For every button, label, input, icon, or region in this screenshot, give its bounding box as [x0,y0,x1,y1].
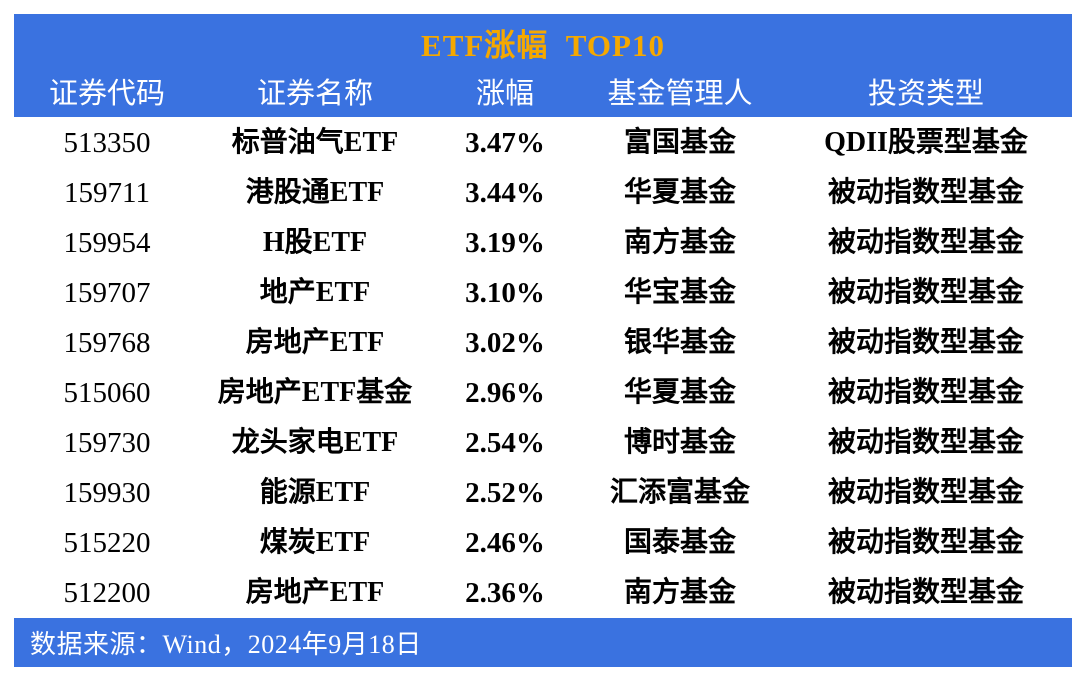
cell-type: 被动指数型基金 [780,576,1072,610]
table-row: 515220 煤炭ETF 2.46% 国泰基金 被动指数型基金 [14,518,1072,568]
cell-type: 被动指数型基金 [780,226,1072,260]
cell-change: 3.44% [430,176,580,210]
cell-manager: 富国基金 [580,126,780,160]
cell-change: 2.46% [430,526,580,560]
cell-manager: 南方基金 [580,576,780,610]
cell-type: QDII股票型基金 [780,126,1072,160]
cell-type: 被动指数型基金 [780,426,1072,460]
cell-change: 2.52% [430,476,580,510]
column-header-manager: 基金管理人 [580,74,780,114]
table-body: 513350 标普油气ETF 3.47% 富国基金 QDII股票型基金 1597… [14,118,1072,618]
table-row: 515060 房地产ETF基金 2.96% 华夏基金 被动指数型基金 [14,368,1072,418]
column-header-name: 证券名称 [200,74,430,114]
table-row: 159711 港股通ETF 3.44% 华夏基金 被动指数型基金 [14,168,1072,218]
cell-name: 房地产ETF [200,576,430,610]
cell-manager: 国泰基金 [580,526,780,560]
cell-name: H股ETF [200,226,430,260]
cell-manager: 华夏基金 [580,176,780,210]
cell-change: 2.36% [430,576,580,610]
cell-change: 3.19% [430,226,580,260]
cell-name: 标普油气ETF [200,126,430,160]
table-row: 159707 地产ETF 3.10% 华宝基金 被动指数型基金 [14,268,1072,318]
cell-code: 515220 [14,526,200,560]
cell-type: 被动指数型基金 [780,476,1072,510]
cell-name: 能源ETF [200,476,430,510]
table-row: 159954 H股ETF 3.19% 南方基金 被动指数型基金 [14,218,1072,268]
cell-name: 地产ETF [200,276,430,310]
cell-change: 2.54% [430,426,580,460]
cell-manager: 汇添富基金 [580,476,780,510]
table-row: 513350 标普油气ETF 3.47% 富国基金 QDII股票型基金 [14,118,1072,168]
data-source-label: 数据来源：Wind，2024年9月18日 [30,618,422,667]
cell-manager: 华宝基金 [580,276,780,310]
cell-change: 3.02% [430,326,580,360]
page-title: ETF涨幅 TOP10 [14,28,1072,64]
table-row: 512200 房地产ETF 2.36% 南方基金 被动指数型基金 [14,568,1072,618]
cell-manager: 博时基金 [580,426,780,460]
column-header-code: 证券代码 [14,74,200,114]
column-header-type: 投资类型 [780,74,1072,114]
data-source-panel: 数据来源：Wind，2024年9月18日 [14,618,1072,667]
table-header-panel: ETF涨幅 TOP10 证券代码 证券名称 涨幅 基金管理人 投资类型 [14,14,1072,117]
cell-code: 159730 [14,426,200,460]
cell-name: 房地产ETF [200,326,430,360]
cell-name: 龙头家电ETF [200,426,430,460]
cell-code: 515060 [14,376,200,410]
cell-type: 被动指数型基金 [780,526,1072,560]
cell-change: 3.10% [430,276,580,310]
cell-name: 房地产ETF基金 [200,376,430,410]
cell-name: 港股通ETF [200,176,430,210]
cell-code: 159711 [14,176,200,210]
cell-manager: 南方基金 [580,226,780,260]
cell-type: 被动指数型基金 [780,326,1072,360]
cell-change: 3.47% [430,126,580,160]
cell-code: 159930 [14,476,200,510]
cell-manager: 华夏基金 [580,376,780,410]
cell-type: 被动指数型基金 [780,376,1072,410]
cell-change: 2.96% [430,376,580,410]
cell-code: 159768 [14,326,200,360]
cell-code: 159707 [14,276,200,310]
cell-code: 512200 [14,576,200,610]
table-row: 159768 房地产ETF 3.02% 银华基金 被动指数型基金 [14,318,1072,368]
table-row: 159930 能源ETF 2.52% 汇添富基金 被动指数型基金 [14,468,1072,518]
table-row: 159730 龙头家电ETF 2.54% 博时基金 被动指数型基金 [14,418,1072,468]
column-header-row: 证券代码 证券名称 涨幅 基金管理人 投资类型 [14,72,1072,116]
cell-code: 159954 [14,226,200,260]
cell-name: 煤炭ETF [200,526,430,560]
cell-manager: 银华基金 [580,326,780,360]
column-header-change: 涨幅 [430,74,580,114]
cell-type: 被动指数型基金 [780,176,1072,210]
cell-code: 513350 [14,126,200,160]
cell-type: 被动指数型基金 [780,276,1072,310]
